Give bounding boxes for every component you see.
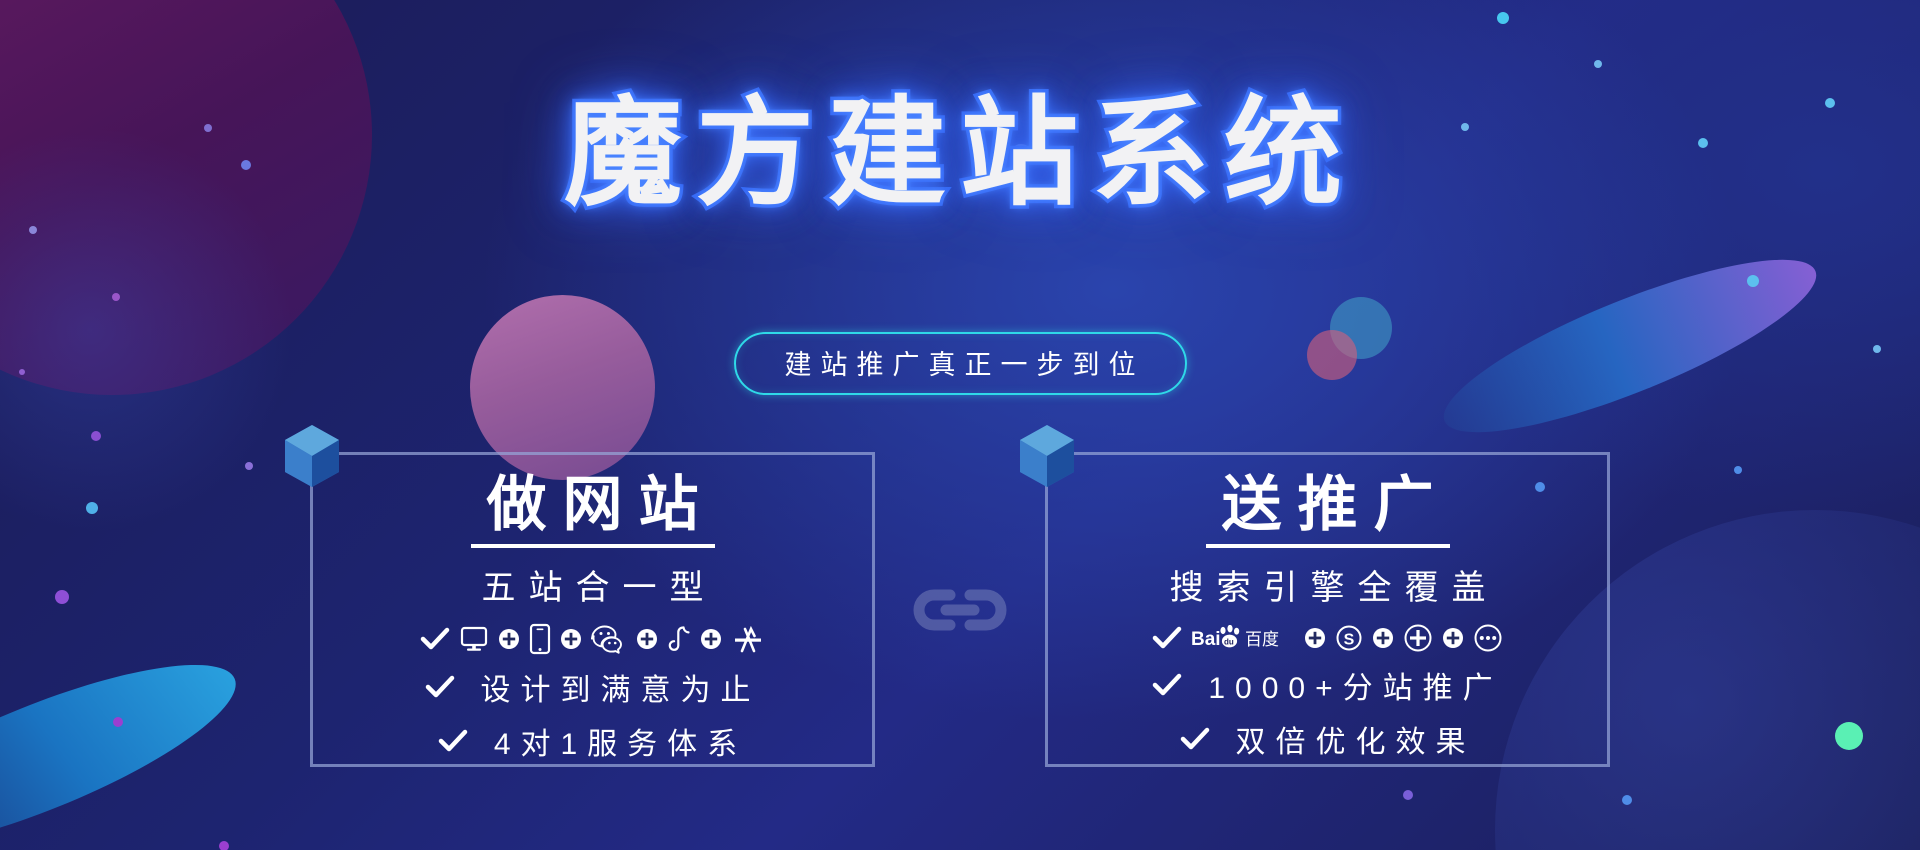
- svg-text:du: du: [1224, 638, 1234, 647]
- left-card-bullet-2: 4对1服务体系: [438, 719, 747, 763]
- check-icon: [1180, 726, 1210, 752]
- svg-text:百度: 百度: [1245, 630, 1279, 649]
- desktop-icon: [459, 625, 489, 653]
- more-icon: [1473, 623, 1503, 653]
- chain-link-icon: [906, 580, 1014, 640]
- plus-icon: [1372, 627, 1394, 649]
- promo-banner: 魔方建站系统 建站推广真正一步到位 做网站 五站合一型: [0, 0, 1920, 850]
- right-card-title: 送推广: [1206, 471, 1450, 548]
- right-card-bullet-2-text: 双倍优化效果: [1226, 717, 1476, 761]
- subtitle-pill-wrap: 建站推广真正一步到位: [0, 332, 1920, 395]
- subtitle-pill: 建站推广真正一步到位: [734, 332, 1187, 395]
- plus-icon: [560, 628, 582, 650]
- douyin-icon: [667, 624, 691, 654]
- right-card-subtitle: 搜索引擎全覆盖: [1157, 560, 1499, 609]
- plus-icon: [700, 628, 722, 650]
- left-card-subtitle: 五站合一型: [469, 560, 717, 609]
- right-card-icon-row: Bai du 百度: [1152, 623, 1503, 653]
- sogou-icon: S: [1335, 624, 1363, 652]
- mobile-phone-icon: [529, 623, 551, 655]
- cards-row: 做网站 五站合一型: [0, 452, 1920, 767]
- left-card-bullet-2-text: 4对1服务体系: [484, 719, 747, 763]
- right-card-inner: 送推广 搜索引擎全覆盖 Bai: [1048, 455, 1607, 780]
- wechat-icon: [591, 624, 627, 654]
- particle-dot: [1594, 60, 1602, 68]
- particle-dot: [1497, 12, 1509, 24]
- baidu-logo: Bai du 百度: [1191, 625, 1295, 651]
- right-card-bullet-1-text: 1000+分站推广: [1198, 663, 1502, 707]
- particle-dot: [1403, 790, 1413, 800]
- check-icon: [425, 674, 455, 700]
- svg-text:S: S: [1344, 632, 1355, 649]
- link-divider: [875, 452, 1045, 767]
- plus-icon: [1442, 627, 1464, 649]
- main-title: 魔方建站系统: [564, 92, 1356, 217]
- particle-dot: [91, 431, 101, 441]
- particle-dot: [1622, 795, 1632, 805]
- so360-icon: [1403, 623, 1433, 653]
- check-icon: [420, 626, 450, 652]
- right-card[interactable]: 送推广 搜索引擎全覆盖 Bai: [1045, 452, 1610, 767]
- left-card-inner: 做网站 五站合一型: [313, 455, 872, 780]
- particle-dot: [219, 841, 229, 850]
- plus-icon: [498, 628, 520, 650]
- check-icon: [1152, 625, 1182, 651]
- left-card-bullet-1-text: 设计到满意为止: [471, 665, 761, 709]
- right-card-bullet-2: 双倍优化效果: [1180, 717, 1476, 761]
- check-icon: [438, 728, 468, 754]
- plus-icon: [636, 628, 658, 650]
- particle-dot: [112, 293, 120, 301]
- plus-icon: [1304, 627, 1326, 649]
- main-title-wrap: 魔方建站系统: [0, 92, 1920, 217]
- left-card-bullet-1: 设计到满意为止: [425, 665, 761, 709]
- left-card-icon-row: [420, 623, 765, 655]
- check-icon: [1152, 672, 1182, 698]
- app-store-icon: [731, 624, 765, 654]
- svg-text:Bai: Bai: [1191, 629, 1221, 650]
- particle-dot: [1747, 275, 1759, 287]
- particle-dot: [29, 226, 37, 234]
- left-card-title: 做网站: [471, 471, 715, 548]
- right-card-bullet-1: 1000+分站推广: [1152, 663, 1502, 707]
- left-card[interactable]: 做网站 五站合一型: [310, 452, 875, 767]
